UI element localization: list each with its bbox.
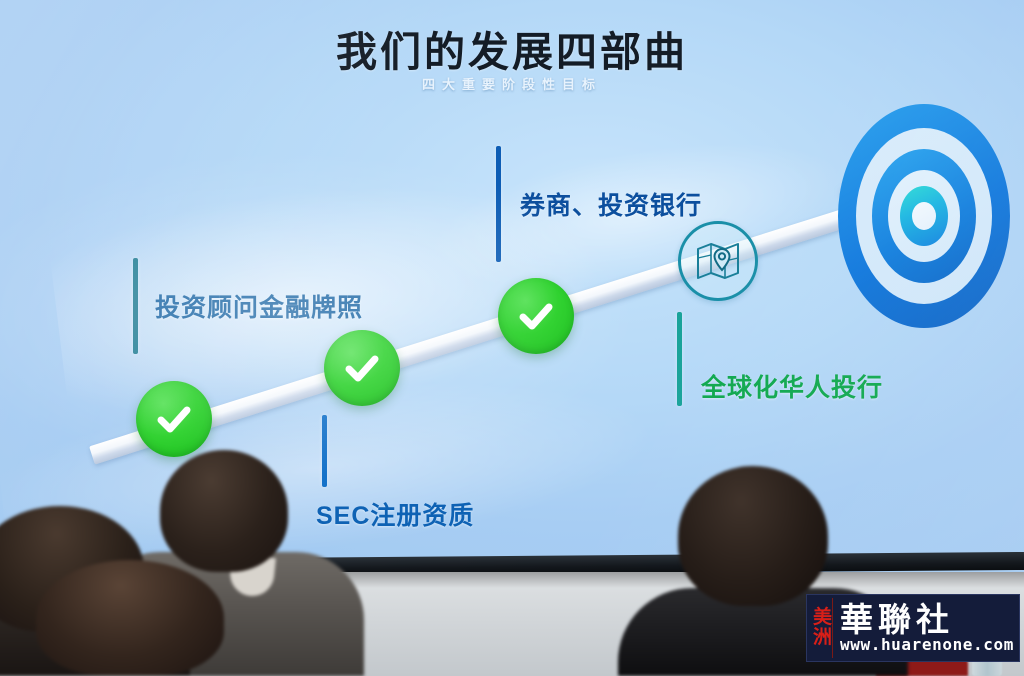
bullseye-target bbox=[838, 104, 1018, 332]
milestone-label-4: 全球化华人投行 bbox=[677, 312, 883, 406]
milestone-check-icon-1 bbox=[136, 381, 212, 457]
milestone-accent-bar-1 bbox=[133, 258, 138, 354]
audience-person-1-head bbox=[160, 450, 288, 572]
milestone-label-text-2: SEC注册资质 bbox=[316, 496, 474, 532]
milestone-label-text-3: 券商、投资银行 bbox=[520, 186, 702, 222]
photo-frame: 我们的发展四部曲 四大重要阶段性目标 bbox=[0, 0, 1024, 676]
slide-subtitle: 四大重要阶段性目标 bbox=[0, 74, 1024, 93]
milestone-label-3: 券商、投资银行 bbox=[496, 146, 702, 262]
audience-person-4-head bbox=[36, 560, 224, 676]
watermark-mark-char-2: 洲 bbox=[813, 628, 832, 648]
milestone-label-text-4: 全球化华人投行 bbox=[701, 368, 883, 404]
target-bullseye-center bbox=[912, 202, 936, 230]
audience-person-2-head bbox=[678, 466, 828, 606]
milestone-accent-bar-3 bbox=[496, 146, 501, 262]
milestone-label-1: 投资顾问金融牌照 bbox=[133, 258, 363, 354]
milestone-accent-bar-4 bbox=[677, 312, 682, 406]
milestone-accent-bar-2 bbox=[322, 415, 327, 487]
watermark-logo: 美 洲 華聯社 www.huarenone.com bbox=[806, 594, 1020, 662]
watermark-mark-char-1: 美 bbox=[813, 608, 832, 628]
watermark-url: www.huarenone.com bbox=[840, 637, 1014, 653]
milestone-check-icon-3 bbox=[498, 278, 574, 354]
milestone-label-2: SEC注册资质 bbox=[316, 415, 474, 532]
watermark-text-group: 華聯社 www.huarenone.com bbox=[840, 603, 1014, 653]
watermark-brand: 華聯社 bbox=[840, 603, 1014, 636]
milestone-label-text-1: 投资顾问金融牌照 bbox=[155, 288, 363, 324]
watermark-mark: 美 洲 bbox=[813, 598, 833, 658]
slide-title: 我们的发展四部曲 bbox=[0, 18, 1024, 78]
